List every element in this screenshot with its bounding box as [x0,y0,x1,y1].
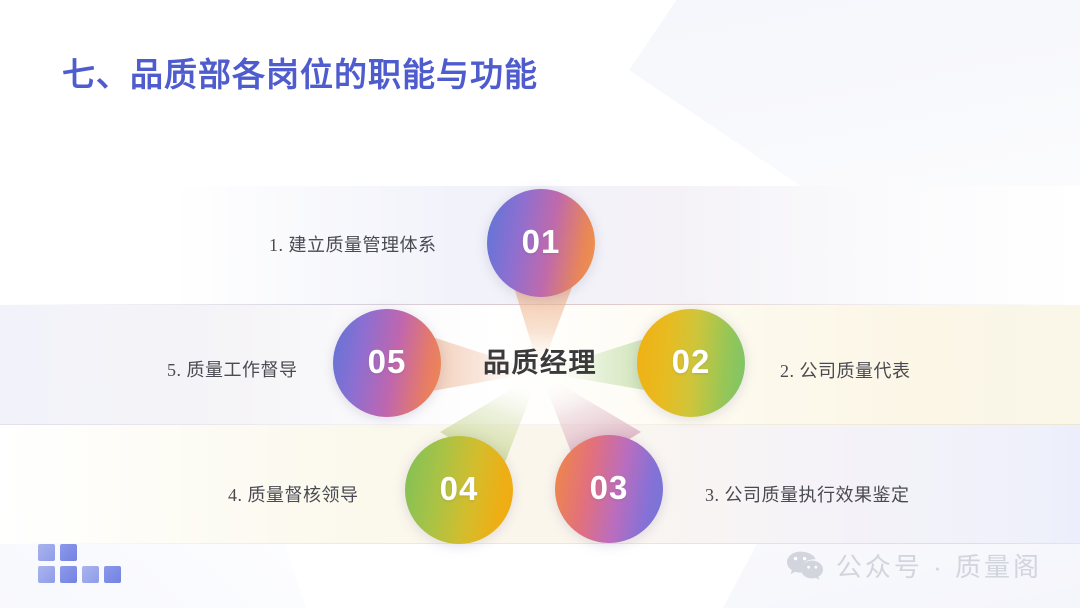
diagram-node-05[interactable]: 05 [333,309,441,417]
slide-canvas: 七、品质部各岗位的职能与功能 [0,0,1080,608]
center-role-label: 品质经理 [460,341,620,380]
radial-diagram: 品质经理 01 02 03 04 05 1. 建立质量管理体系 2. 公司质量代… [0,0,1080,608]
node-number-05: 05 [368,343,407,381]
node-caption-03: 3. 公司质量执行效果鉴定 [705,481,910,507]
decoration-square-empty [104,544,121,561]
watermark-text: 公众号 · 质量阁 [836,547,1042,584]
node-caption-01: 1. 建立质量管理体系 [269,231,437,257]
decoration-square [60,544,77,561]
decoration-square [38,544,55,561]
diagram-node-04[interactable]: 04 [405,436,513,544]
radial-rays-graphic [0,0,1080,608]
watermark: 公众号 · 质量阁 [786,547,1042,584]
decoration-square [104,566,121,583]
node-caption-05: 5. 质量工作督导 [167,356,298,382]
wechat-icon [786,550,824,582]
diagram-node-03[interactable]: 03 [555,435,663,543]
diagram-node-02[interactable]: 02 [637,309,745,417]
decoration-square [82,566,99,583]
square-grid-decoration [38,544,121,583]
node-caption-02: 2. 公司质量代表 [780,357,911,383]
node-number-01: 01 [522,223,561,261]
diagram-node-01[interactable]: 01 [487,189,595,297]
node-number-03: 03 [590,469,629,507]
decoration-square-empty [82,544,99,561]
node-number-04: 04 [440,470,479,508]
decoration-square [38,566,55,583]
decoration-square [60,566,77,583]
node-number-02: 02 [672,343,711,381]
node-caption-04: 4. 质量督核领导 [228,481,359,507]
